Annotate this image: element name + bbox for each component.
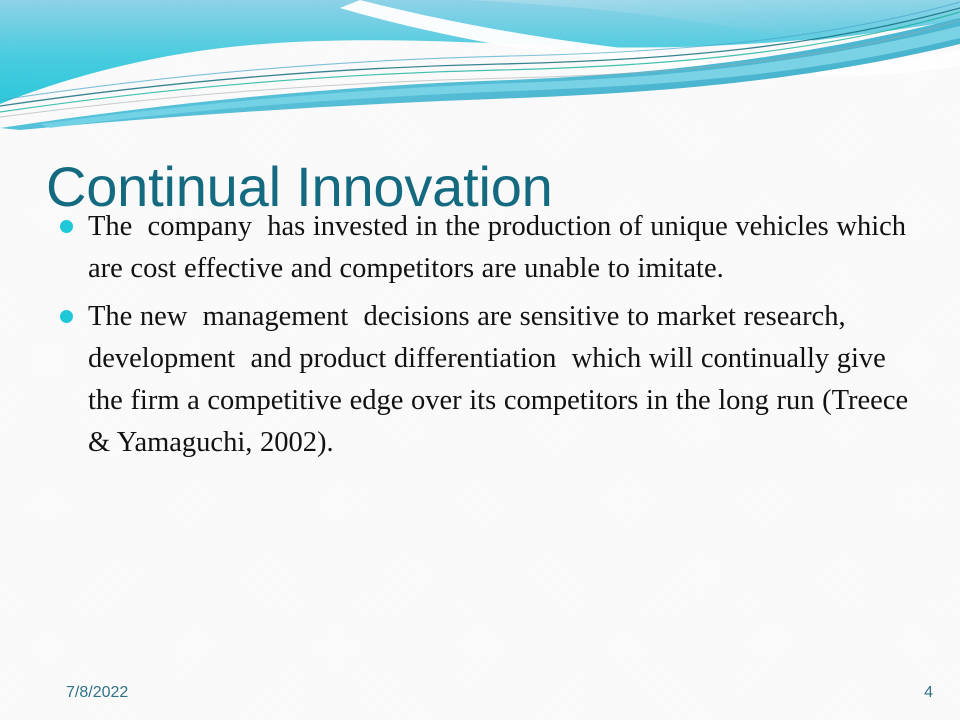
bullet-text: The new management decisions are sensiti… <box>88 301 923 458</box>
slide-body-content: The company has invested in the producti… <box>52 206 912 470</box>
presentation-slide: Continual Innovation The company has inv… <box>0 0 960 720</box>
footer-slide-number: 4 <box>924 684 933 702</box>
decorative-wave-banner <box>0 0 960 130</box>
bullet-marker-icon <box>60 310 73 323</box>
bullet-item: The company has invested in the producti… <box>52 206 912 290</box>
bullet-item: The new management decisions are sensiti… <box>52 296 912 464</box>
bullet-marker-icon <box>60 220 73 233</box>
bullet-text: The company has invested in the producti… <box>88 211 914 284</box>
footer-date: 7/8/2022 <box>66 684 128 702</box>
